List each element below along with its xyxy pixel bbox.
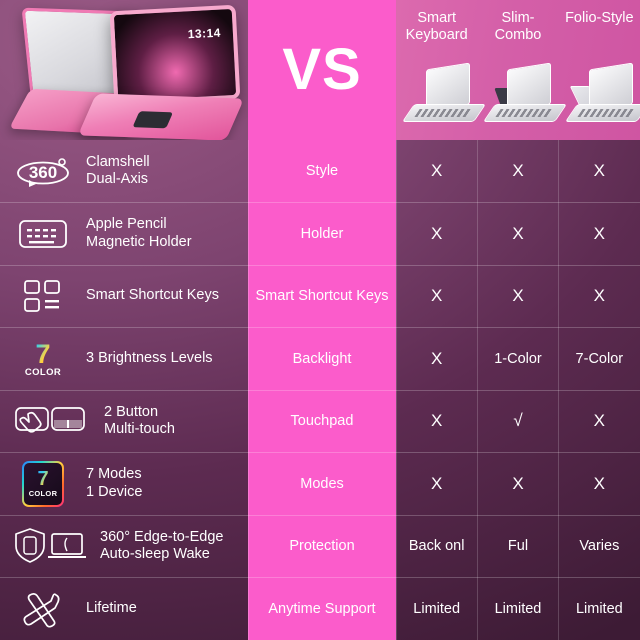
category-cell-holder: Holder — [248, 203, 396, 266]
feature-label: 3 Brightness Levels — [86, 350, 213, 368]
keyboard-base-shape — [483, 104, 567, 122]
hero-tablet-front: 13:14 — [110, 5, 241, 105]
value-cell-holder-slim-combo: X — [477, 203, 558, 266]
touchpad-hand-icon — [14, 399, 90, 443]
value-cell-shortcut-keys-slim-combo: X — [477, 265, 558, 328]
keyboard-icon — [14, 212, 72, 256]
competitors-header: SmartKeyboard Slim-Combo Folio-Style — [396, 0, 640, 140]
value-cell-support-folio-style: Limited — [559, 578, 640, 640]
hero-clock-label: 13:14 — [187, 26, 221, 42]
feature-row-modes: 7 COLOR 7 Modes1 Device — [0, 453, 248, 516]
comparison-infographic: 13:14 VS SmartKeyboard Slim-Combo Folio-… — [0, 0, 640, 640]
feature-row-support: Lifetime — [0, 578, 248, 640]
value-text: X — [512, 286, 523, 306]
value-text: Limited — [413, 601, 460, 617]
value-text: 1-Color — [494, 351, 542, 367]
category-label: Modes — [297, 476, 347, 492]
keyboard-base-shape — [402, 104, 486, 122]
value-cell-modes-smart-keyboard: X — [396, 453, 477, 516]
value-text: √ — [513, 411, 522, 431]
value-cell-protection-slim-combo: Ful — [477, 515, 558, 578]
category-label: Backlight — [290, 351, 355, 367]
feature-row-holder: Apple PencilMagnetic Holder — [0, 203, 248, 266]
value-cell-backlight-folio-style: 7-Color — [559, 328, 640, 391]
value-text: X — [512, 224, 523, 244]
value-cell-modes-folio-style: X — [559, 453, 640, 516]
feature-label: ClamshellDual-Axis — [86, 154, 150, 189]
competitor-name-slim-combo: Slim-Combo — [477, 10, 558, 43]
tablet-keyboard-icon — [396, 64, 477, 136]
competitor-names: SmartKeyboard Slim-Combo Folio-Style — [396, 10, 640, 43]
feature-label: Smart Shortcut Keys — [86, 287, 219, 305]
value-text: X — [431, 224, 442, 244]
value-cell-style-slim-combo: X — [477, 140, 558, 203]
value-text: Limited — [576, 601, 623, 617]
category-label: Holder — [298, 226, 347, 242]
category-cell-style: Style — [248, 140, 396, 203]
category-cell-modes: Modes — [248, 453, 396, 516]
value-text: X — [594, 161, 605, 181]
value-cell-shortcut-keys-folio-style: X — [559, 265, 640, 328]
category-label: Touchpad — [288, 413, 357, 429]
value-text: X — [512, 474, 523, 494]
360-degree-rotation-icon: 360 — [14, 149, 72, 193]
vs-label: VS — [282, 41, 361, 99]
feature-row-touchpad: 2 ButtonMulti-touch — [0, 390, 248, 453]
value-text: X — [594, 474, 605, 494]
value-cell-protection-smart-keyboard: Back onl — [396, 515, 477, 578]
value-text: Ful — [508, 538, 528, 554]
category-cell-support: Anytime Support — [248, 578, 396, 640]
value-cell-holder-folio-style: X — [559, 203, 640, 266]
value-text: X — [431, 286, 442, 306]
svg-text:360: 360 — [29, 163, 57, 182]
hero-product-image: 13:14 — [0, 0, 248, 140]
feature-label: Lifetime — [86, 600, 137, 618]
shortcut-keys-grid-icon — [14, 274, 72, 318]
color-word: COLOR — [25, 368, 61, 378]
feature-row-protection: 360° Edge-to-EdgeAuto-sleep Wake — [0, 515, 248, 578]
value-text: Varies — [579, 538, 619, 554]
value-text: X — [594, 286, 605, 306]
tablet-kickstand-keyboard-icon — [477, 64, 558, 136]
category-cell-shortcut-keys: Smart Shortcut Keys — [248, 265, 396, 328]
feature-label: 2 ButtonMulti-touch — [104, 404, 175, 439]
tablet-folio-keyboard-icon — [559, 64, 640, 136]
hero-illustration: 13:14 — [0, 0, 248, 140]
tools-wrench-screwdriver-icon — [14, 587, 72, 631]
seven-glyph: 7 — [25, 341, 61, 368]
value-cell-backlight-slim-combo: 1-Color — [477, 328, 558, 391]
value-cell-touchpad-slim-combo: √ — [477, 390, 558, 453]
comparison-grid: 13:14 VS SmartKeyboard Slim-Combo Folio-… — [0, 0, 640, 640]
value-text: Back onl — [409, 538, 465, 554]
seven-color-icon: 7 COLOR — [14, 337, 72, 381]
value-cell-support-slim-combo: Limited — [477, 578, 558, 640]
feature-row-style: 360 ClamshellDual-Axis — [0, 140, 248, 203]
feature-label: 7 Modes1 Device — [86, 466, 142, 501]
value-text: 7-Color — [576, 351, 624, 367]
competitor-name-smart-keyboard: SmartKeyboard — [396, 10, 477, 43]
keyboard-base-shape — [565, 104, 640, 122]
feature-label: 360° Edge-to-EdgeAuto-sleep Wake — [100, 529, 224, 564]
feature-row-shortcut-keys: Smart Shortcut Keys — [0, 265, 248, 328]
category-label: Anytime Support — [265, 601, 378, 617]
color-word: COLOR — [29, 489, 58, 498]
vs-header: VS — [248, 0, 396, 140]
competitor-name-folio-style: Folio-Style — [559, 10, 640, 43]
value-text: X — [431, 474, 442, 494]
value-cell-touchpad-smart-keyboard: X — [396, 390, 477, 453]
seven-color-badge-icon: 7 COLOR — [14, 462, 72, 506]
category-label: Smart Shortcut Keys — [253, 288, 392, 304]
feature-row-backlight: 7 COLOR 3 Brightness Levels — [0, 328, 248, 391]
category-cell-protection: Protection — [248, 515, 396, 578]
value-cell-modes-slim-combo: X — [477, 453, 558, 516]
value-cell-style-smart-keyboard: X — [396, 140, 477, 203]
value-text: X — [512, 161, 523, 181]
value-cell-shortcut-keys-smart-keyboard: X — [396, 265, 477, 328]
category-cell-touchpad: Touchpad — [248, 390, 396, 453]
value-text: X — [431, 161, 442, 181]
value-text: X — [431, 411, 442, 431]
value-cell-holder-smart-keyboard: X — [396, 203, 477, 266]
value-text: X — [594, 224, 605, 244]
value-cell-backlight-smart-keyboard: X — [396, 328, 477, 391]
feature-label: Apple PencilMagnetic Holder — [86, 216, 192, 251]
value-text: X — [594, 411, 605, 431]
value-cell-style-folio-style: X — [559, 140, 640, 203]
value-cell-touchpad-folio-style: X — [559, 390, 640, 453]
category-label: Style — [303, 163, 341, 179]
value-cell-support-smart-keyboard: Limited — [396, 578, 477, 640]
competitor-images — [396, 64, 640, 136]
hero-keyboard-front — [78, 93, 244, 140]
value-text: X — [431, 349, 442, 369]
category-label: Protection — [286, 538, 357, 554]
seven-glyph: 7 — [37, 469, 48, 489]
shield-laptop-protection-icon — [14, 524, 86, 568]
value-text: Limited — [495, 601, 542, 617]
category-cell-backlight: Backlight — [248, 328, 396, 391]
value-cell-protection-folio-style: Varies — [559, 515, 640, 578]
